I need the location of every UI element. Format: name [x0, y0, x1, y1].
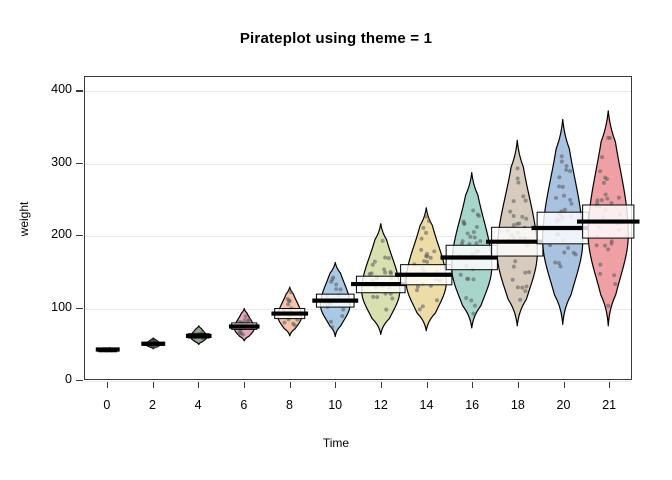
data-point [373, 260, 377, 264]
data-point [524, 217, 528, 221]
data-point [512, 199, 516, 203]
data-point [516, 285, 520, 289]
x-tick-mark [244, 381, 245, 388]
data-point [560, 154, 564, 158]
data-point [553, 261, 557, 265]
data-point [558, 264, 562, 268]
pirateplot-figure: Pirateplot using theme = 1 weight Time 0… [0, 0, 672, 480]
x-tick-label: 2 [133, 398, 173, 412]
data-point [523, 271, 527, 275]
data-point [562, 251, 566, 255]
data-point [384, 308, 388, 312]
violin-group [229, 309, 260, 341]
data-point [435, 298, 439, 302]
y-tick-label: 0 [26, 372, 72, 386]
data-point [471, 277, 475, 281]
data-point [329, 280, 333, 284]
data-point [466, 231, 470, 235]
y-tick-mark [76, 380, 83, 381]
x-axis-label: Time [0, 436, 672, 450]
y-axis-label: weight [17, 179, 31, 259]
data-point [415, 288, 419, 292]
data-point [606, 247, 610, 251]
data-point [606, 304, 610, 308]
data-point [390, 297, 394, 301]
data-point [341, 308, 345, 312]
data-point [520, 286, 524, 290]
data-point [525, 285, 529, 289]
data-point [424, 231, 428, 235]
x-tick-label: 0 [87, 398, 127, 412]
data-point [338, 287, 342, 291]
x-tick-label: 4 [178, 398, 218, 412]
data-point [420, 237, 424, 241]
data-point [557, 184, 561, 188]
data-point [609, 242, 613, 246]
x-tick-mark [472, 381, 473, 388]
data-point [527, 270, 531, 274]
data-point [508, 210, 512, 214]
x-tick-label: 21 [589, 398, 629, 412]
y-tick-mark [76, 308, 83, 309]
data-point [512, 265, 516, 269]
x-tick-mark [335, 381, 336, 388]
data-point [421, 304, 425, 308]
data-point [568, 198, 572, 202]
y-tick-mark [76, 90, 83, 91]
data-point [432, 249, 436, 253]
x-tick-label: 20 [544, 398, 584, 412]
data-point [425, 215, 429, 219]
data-point [246, 319, 250, 323]
gridline [85, 381, 631, 382]
data-point [604, 193, 608, 197]
data-point [368, 272, 372, 276]
data-point [383, 255, 387, 259]
data-point [477, 214, 481, 218]
data-point [475, 225, 479, 229]
data-point [287, 299, 291, 303]
y-tick-mark [76, 235, 83, 236]
data-point [560, 159, 564, 163]
data-point [244, 314, 248, 318]
data-point [511, 278, 515, 282]
y-tick-label: 100 [26, 300, 72, 314]
data-point [554, 196, 558, 200]
violin-group [312, 263, 358, 337]
data-point [608, 136, 612, 140]
data-point [521, 194, 525, 198]
data-point [568, 169, 572, 173]
x-tick-mark [609, 381, 610, 388]
data-point [598, 272, 602, 276]
data-point [561, 185, 565, 189]
data-point [516, 166, 520, 170]
violin-group [141, 338, 165, 349]
data-point [334, 282, 338, 286]
data-point [472, 230, 476, 234]
data-point [570, 202, 574, 206]
y-tick-label: 300 [26, 155, 72, 169]
data-point [598, 263, 602, 267]
data-point [340, 314, 344, 318]
data-point [462, 222, 466, 226]
data-point [513, 259, 517, 263]
data-point [371, 295, 375, 299]
data-point [473, 304, 477, 308]
x-tick-mark [518, 381, 519, 388]
data-point [605, 197, 609, 201]
data-point [603, 176, 607, 180]
violin-layer [85, 77, 631, 379]
data-point [289, 290, 293, 294]
data-point [512, 223, 516, 227]
data-point [602, 181, 606, 185]
data-point [466, 277, 470, 281]
data-point [381, 239, 385, 243]
data-point [286, 302, 290, 306]
data-point [478, 239, 482, 243]
data-point [291, 322, 295, 326]
data-point [418, 307, 422, 311]
data-point [421, 226, 425, 230]
data-point [524, 199, 528, 203]
data-point [595, 243, 599, 247]
data-point [241, 332, 245, 336]
data-point [474, 241, 478, 245]
data-point [516, 181, 520, 185]
data-point [334, 287, 338, 291]
data-point [612, 273, 616, 277]
data-point [459, 273, 463, 277]
data-point [518, 298, 522, 302]
data-point [609, 201, 613, 205]
data-point [238, 331, 242, 335]
violin-group [186, 326, 212, 345]
data-point [563, 208, 567, 212]
data-point [473, 236, 477, 240]
data-point [471, 209, 475, 213]
x-tick-mark [290, 381, 291, 388]
x-tick-label: 16 [452, 398, 492, 412]
x-tick-label: 18 [498, 398, 538, 412]
data-point [565, 164, 569, 168]
data-point [282, 321, 286, 325]
x-tick-label: 6 [224, 398, 264, 412]
data-point [564, 168, 568, 172]
data-point [523, 289, 527, 293]
x-tick-label: 8 [270, 398, 310, 412]
data-point [617, 196, 621, 200]
x-tick-mark [153, 381, 154, 388]
data-point [557, 175, 561, 179]
data-point [600, 155, 604, 159]
data-point [520, 215, 524, 219]
page-title: Pirateplot using theme = 1 [0, 30, 672, 47]
data-point [516, 176, 520, 180]
data-point [461, 239, 465, 243]
data-point [603, 244, 607, 248]
data-point [574, 253, 578, 257]
data-point [389, 271, 393, 275]
x-tick-label: 12 [361, 398, 401, 412]
data-point [422, 259, 426, 263]
data-point [598, 169, 602, 173]
data-point [425, 252, 429, 256]
data-point [469, 298, 473, 302]
data-point [419, 248, 423, 252]
data-point [387, 256, 391, 260]
violin-group [271, 287, 308, 336]
data-point [613, 282, 617, 286]
violin-group [96, 347, 120, 353]
data-point [512, 214, 516, 218]
plot-panel [84, 76, 632, 380]
data-point [566, 246, 570, 250]
data-point [331, 276, 335, 280]
data-point [464, 296, 468, 300]
x-tick-mark [564, 381, 565, 388]
x-tick-mark [381, 381, 382, 388]
data-point [471, 312, 475, 316]
data-point [600, 198, 604, 202]
x-tick-mark [107, 381, 108, 388]
x-tick-label: 10 [315, 398, 355, 412]
data-point [382, 267, 386, 271]
y-tick-label: 400 [26, 82, 72, 96]
data-point [375, 295, 379, 299]
data-point [515, 222, 519, 226]
data-point [329, 320, 333, 324]
data-point [562, 194, 566, 198]
data-point [427, 219, 431, 223]
x-tick-mark [427, 381, 428, 388]
x-tick-mark [198, 381, 199, 388]
x-tick-label: 14 [407, 398, 447, 412]
data-point [468, 235, 472, 239]
violin-group [577, 111, 640, 326]
y-tick-label: 200 [26, 227, 72, 241]
data-point [330, 325, 334, 329]
y-tick-mark [76, 163, 83, 164]
